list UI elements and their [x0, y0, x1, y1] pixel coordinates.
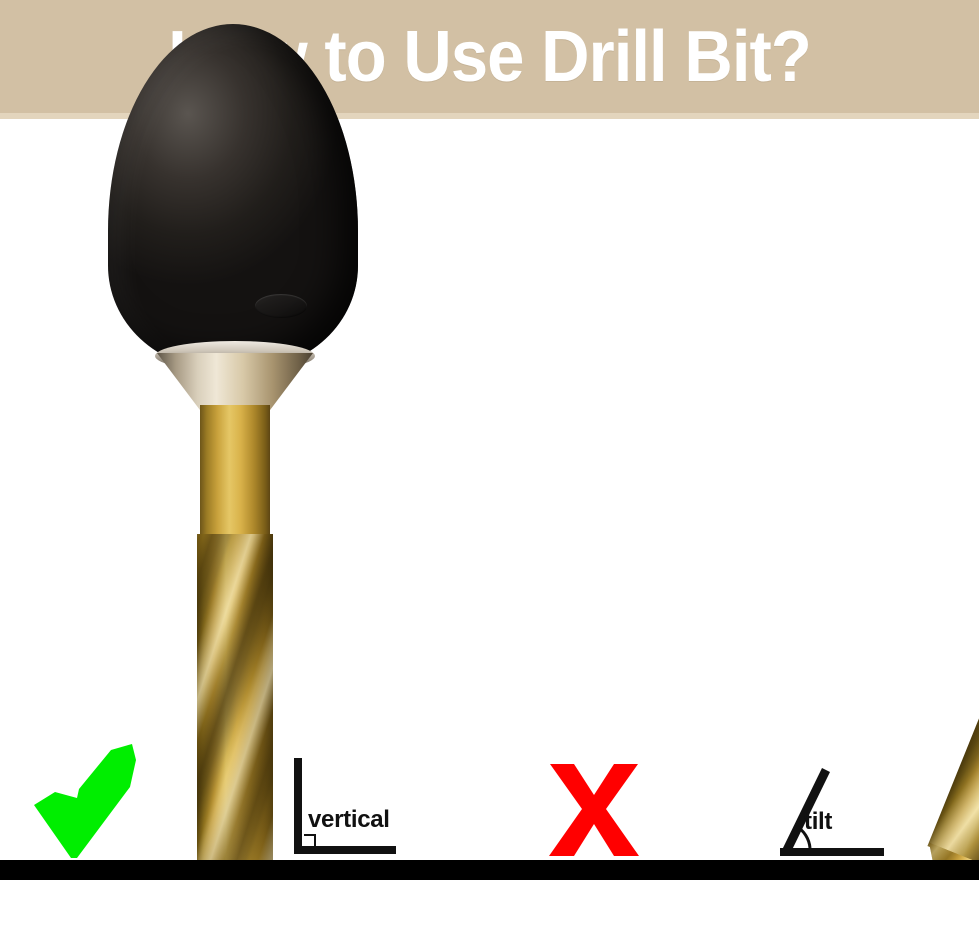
- chuck-brand-emboss-left: [255, 294, 307, 318]
- tilt-label: tilt: [804, 810, 832, 834]
- cross-icon: [544, 762, 644, 858]
- vertical-label: vertical: [308, 808, 390, 832]
- check-icon: [33, 742, 149, 860]
- bottom-white-area: [0, 880, 979, 933]
- drill-bit-flutes-right: [927, 501, 979, 883]
- ground-surface-bar: [0, 860, 979, 880]
- chuck-collar-cone-left: [157, 353, 313, 411]
- drill-bit-instruction-image: How to Use Drill Bit?: [0, 0, 979, 933]
- drill-bit-shank-left: [200, 405, 270, 540]
